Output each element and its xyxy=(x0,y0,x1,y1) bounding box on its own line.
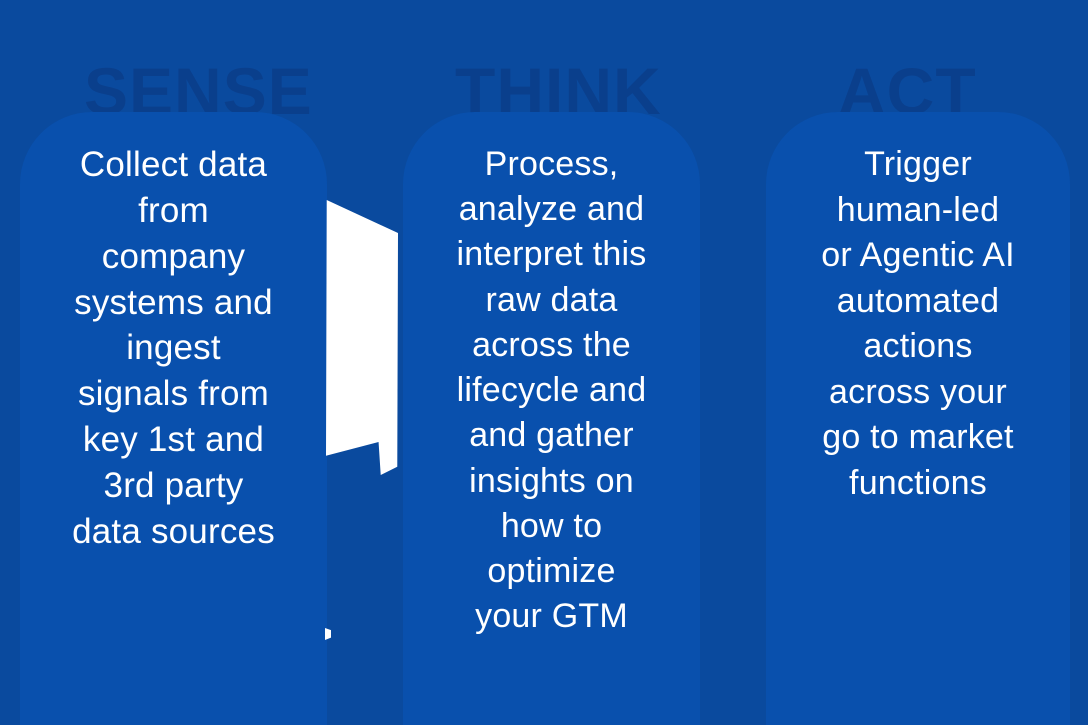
background-band-gap-2 xyxy=(700,0,766,725)
card-sense-body: Collect data from company systems and in… xyxy=(38,142,309,725)
card-think-body: Process, analyze and interpret this raw … xyxy=(421,142,682,725)
white-panel-artifact xyxy=(326,200,398,475)
card-act: Trigger human-led or Agentic AI automate… xyxy=(766,112,1070,725)
background-band-right xyxy=(1070,0,1088,725)
background-band-left xyxy=(0,0,20,725)
card-act-body: Trigger human-led or Agentic AI automate… xyxy=(784,142,1052,725)
infographic-canvas: SENSE THINK ACT Collect data from compan… xyxy=(0,0,1088,725)
card-think: Process, analyze and interpret this raw … xyxy=(403,112,700,725)
card-sense: Collect data from company systems and in… xyxy=(20,112,327,725)
